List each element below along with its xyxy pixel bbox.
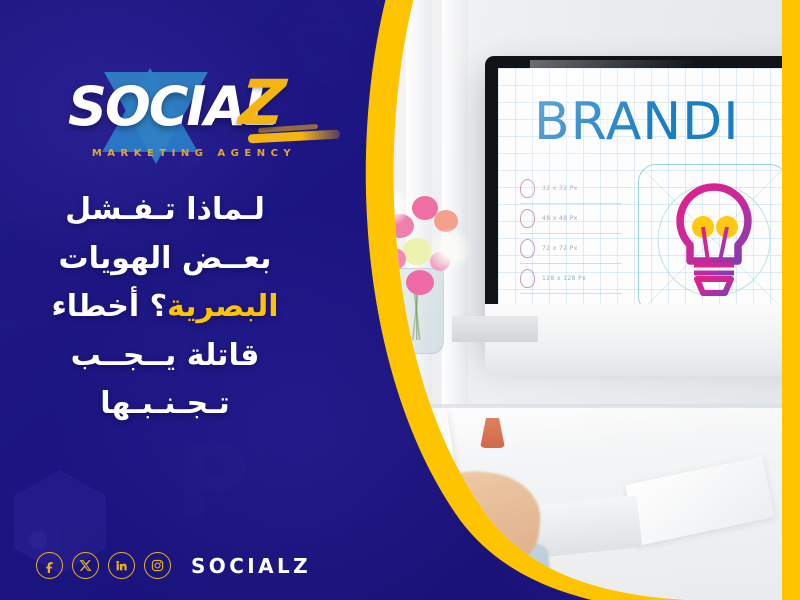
footer-social-bar: SOCIALZ xyxy=(36,552,311,579)
headline-accent-word: البصرية xyxy=(167,289,278,324)
headline-line-3: البصرية؟ أخطاء xyxy=(20,283,310,332)
mini-bulb-icon xyxy=(520,209,535,228)
brand-logo: SOCIAL Z MARKETING AGENCY xyxy=(62,66,322,166)
watermark-pinterest xyxy=(148,418,276,546)
footer-brand-name: SOCIALZ xyxy=(191,554,311,578)
screen-size-label: 72 x 72 Px xyxy=(542,245,578,252)
headline-line-2: بعــض الهويات xyxy=(20,235,310,284)
facebook-icon[interactable] xyxy=(36,552,63,579)
headline-line-1: لـماذا تـفـشل xyxy=(20,186,310,235)
screen-size-row: 32 x 32 Px xyxy=(520,174,622,204)
monitor-stand xyxy=(452,316,538,342)
instagram-icon[interactable] xyxy=(144,552,171,579)
screen-size-label: 32 x 32 Px xyxy=(542,185,578,192)
monitor-screen: BRANDI 32 x 32 Px 48 x 48 Px xyxy=(498,68,800,304)
photo-panel: BRANDI 32 x 32 Px 48 x 48 Px xyxy=(330,0,800,600)
screen-size-label: 48 x 48 Px xyxy=(542,215,578,222)
headline-line-5: تـجـنـبـها xyxy=(20,380,310,429)
watermark-square-topleft xyxy=(0,0,68,86)
social-media-post: f 👻 P SOCIAL Z MARKETING AGENCY لـماذا ت… xyxy=(0,0,800,600)
screen-size-row: 72 x 72 Px xyxy=(520,234,622,264)
screen-size-list: 32 x 32 Px 48 x 48 Px 72 x 72 Px xyxy=(520,174,622,294)
watermark-pinterest-glyph: P xyxy=(148,418,276,546)
mini-bulb-icon xyxy=(520,239,535,258)
mini-bulb-icon xyxy=(520,179,535,198)
right-edge-accent-bar xyxy=(782,0,800,600)
screen-size-row: 48 x 48 Px xyxy=(520,204,622,234)
mini-bulb-icon xyxy=(520,269,535,288)
photo-baby-breath xyxy=(426,228,474,272)
logo-tagline: MARKETING AGENCY xyxy=(74,148,314,159)
headline: لـماذا تـفـشل بعــض الهويات البصرية؟ أخط… xyxy=(20,186,310,429)
x-twitter-icon[interactable] xyxy=(72,552,99,579)
headline-line-4: قاتلة يــجــب xyxy=(20,332,310,381)
photo-monitor: BRANDI 32 x 32 Px 48 x 48 Px xyxy=(485,56,800,346)
screen-logo-card xyxy=(638,164,788,304)
linkedin-icon[interactable] xyxy=(108,552,135,579)
screen-size-label: 128 x 128 Px xyxy=(542,275,586,282)
screen-size-row: 128 x 128 Px xyxy=(520,264,622,294)
lightbulb-logo-icon xyxy=(639,165,789,304)
headline-line-3-rest: ؟ أخطاء xyxy=(51,289,167,324)
photo-flower xyxy=(406,270,434,295)
screen-branding-text: BRANDI xyxy=(534,92,740,152)
logo-z-letter: Z xyxy=(237,72,288,134)
